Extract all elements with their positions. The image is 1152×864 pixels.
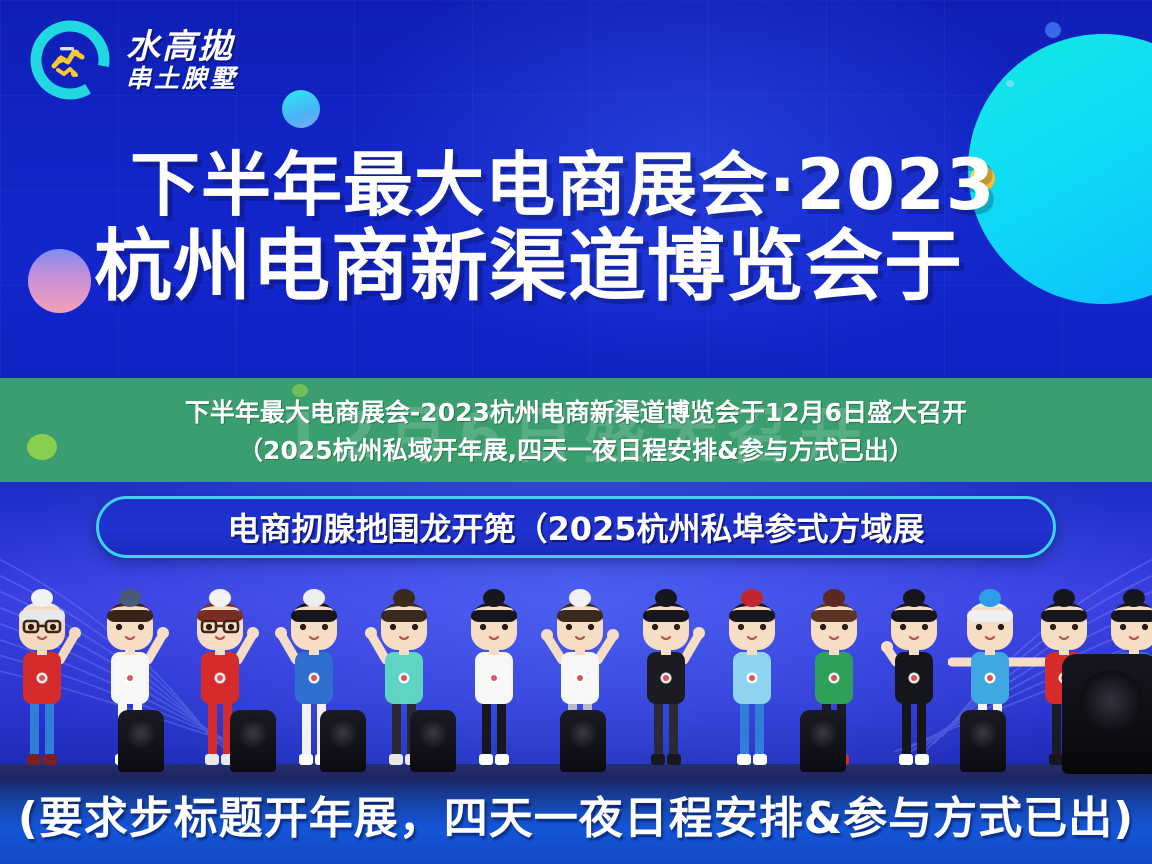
hero-section: 水高拋 串土腴墅 下半年最大电商展会·2023 杭州电商新渠道博览会于 [0, 0, 1152, 380]
hero-headline-line-1: 下半年最大电商展会·2023 [130, 150, 1152, 221]
hero-headline: 下半年最大电商展会·2023 杭州电商新渠道博览会于 [0, 150, 1152, 309]
stage-speaker-icon-4 [410, 710, 456, 772]
lower-photo-section: 电商扨腺扡围龙开篼（2025杭州私埠参式方域展 (要求步标题开年展，四天一夜日程… [0, 482, 1152, 864]
cyan-dot-decoration [282, 90, 320, 128]
bottom-caption: (要求步标题开年展，四天一夜日程安排&参与方式已出) [0, 782, 1152, 846]
stage-speaker-large-icon [1062, 654, 1152, 774]
stage-speaker-icon-3 [320, 710, 366, 772]
mascot-row [0, 568, 1152, 774]
micro-dot-decoration [1006, 80, 1014, 87]
green-caption-bar: 12月6日盛大召开 下半年最大电商展会-2023杭州电商新渠道博览会于12月6日… [0, 378, 1152, 482]
logo-line-1: 水高拋 [126, 30, 238, 64]
green-bar-line-2: （2025杭州私域开年展,四天一夜日程安排&参与方式已出） [238, 431, 914, 467]
stage-speaker-icon-6 [800, 710, 846, 772]
stage-speaker-icon-5 [560, 710, 606, 772]
mascot-grandma-red [0, 588, 84, 774]
hero-headline-line-2: 杭州电商新渠道博览会于 [94, 227, 1152, 309]
mascot-white-tee-black-pants [452, 588, 536, 774]
logo-wordmark: 水高拋 串土腴墅 [126, 30, 238, 91]
pill-banner-text: 电商扨腺扡围龙开篼（2025杭州私埠参式方域展 [227, 504, 924, 550]
green-bar-text-block: 下半年最大电商展会-2023杭州电商新渠道博览会于12月6日盛大召开 （2025… [0, 378, 1152, 482]
pill-banner: 电商扨腺扡围龙开篼（2025杭州私埠参式方域展 [96, 496, 1056, 558]
mascot-cyan-tracksuit [710, 588, 794, 774]
green-bar-line-1: 下半年最大电商展会-2023杭州电商新渠道博览会于12月6日盛大召开 [185, 393, 967, 429]
mascot-black-suit [872, 588, 956, 774]
circle-map-logo-icon [24, 14, 116, 106]
stage-speaker-icon-1 [118, 710, 164, 772]
bottom-caption-text: (要求步标题开年展，四天一夜日程安排&参与方式已出) [18, 782, 1135, 846]
brand-logo[interactable]: 水高拋 串土腴墅 [24, 14, 238, 106]
stage-speaker-icon-2 [230, 710, 276, 772]
stage-speaker-icon-7 [960, 710, 1006, 772]
logo-line-2: 串土腴墅 [126, 66, 238, 91]
mascot-black-vest-bowtie [624, 588, 708, 774]
banner-image: 水高拋 串土腴墅 下半年最大电商展会·2023 杭州电商新渠道博览会于 12月6… [0, 0, 1152, 864]
small-blue-dot-decoration [1045, 22, 1061, 38]
